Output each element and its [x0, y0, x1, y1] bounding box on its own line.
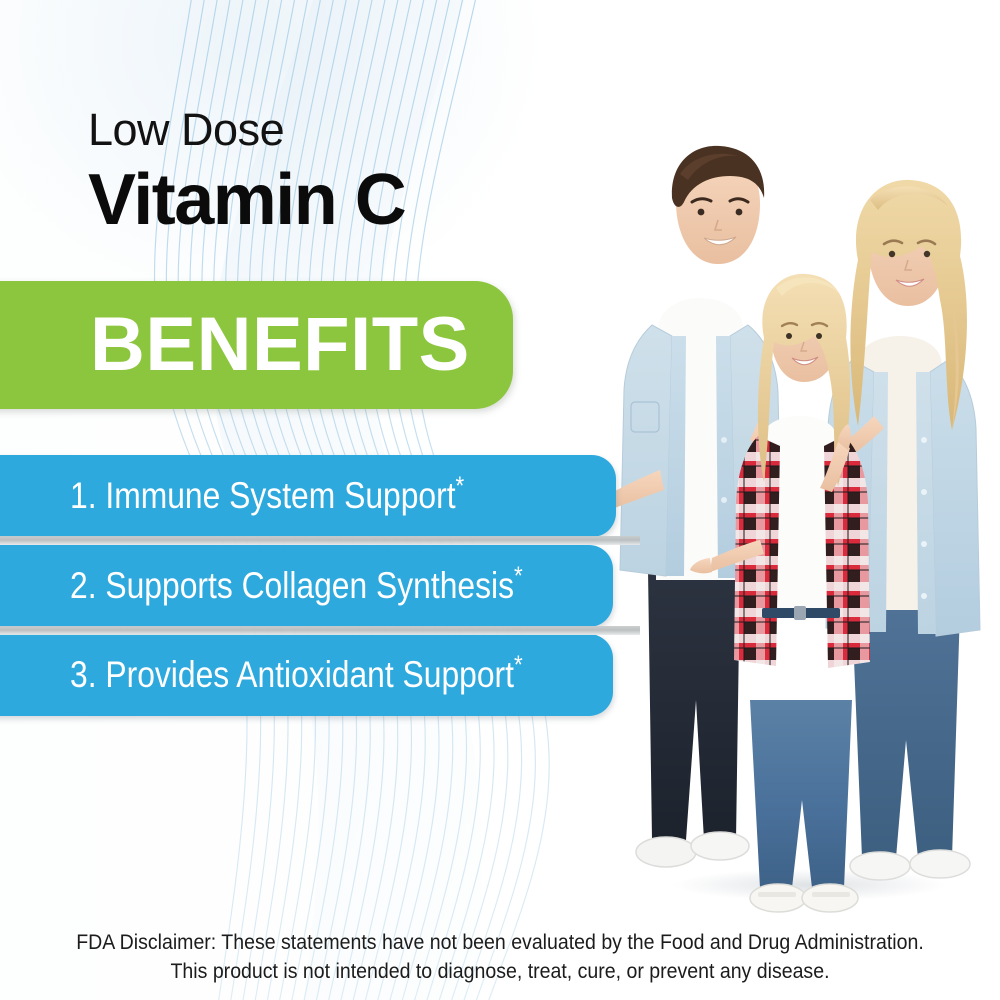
benefit-label-2: Supports Collagen Synthesis [105, 565, 514, 606]
bar-divider-1 [0, 536, 640, 545]
disclaimer-line-2: This product is not intended to diagnose… [35, 957, 965, 986]
benefit-bar-3[interactable]: 3. Provides Antioxidant Support* [0, 634, 613, 716]
benefit-label-1: Immune System Support [105, 475, 455, 516]
benefit-asterisk-3: * [514, 650, 523, 680]
fda-disclaimer: FDA Disclaimer: These statements have no… [0, 928, 1000, 986]
benefit-text-3: 3. Provides Antioxidant Support* [70, 654, 523, 696]
benefit-number-2: 2. [70, 565, 97, 606]
promo-graphic: Low Dose Vitamin C [0, 0, 1000, 1000]
family-photo [600, 140, 1000, 930]
product-name: Vitamin C [88, 162, 405, 238]
benefit-text-2: 2. Supports Collagen Synthesis* [70, 565, 523, 607]
benefit-text-1: 1. Immune System Support* [70, 475, 464, 517]
benefit-asterisk-2: * [514, 561, 523, 591]
benefit-number-1: 1. [70, 475, 97, 516]
benefit-asterisk-1: * [456, 471, 465, 501]
benefits-label: BENEFITS [90, 306, 470, 384]
benefits-banner: BENEFITS [0, 281, 513, 409]
product-eyebrow: Low Dose [88, 104, 405, 156]
benefit-bar-1[interactable]: 1. Immune System Support* [0, 455, 616, 537]
benefit-label-3: Provides Antioxidant Support [105, 654, 514, 695]
benefit-bar-2[interactable]: 2. Supports Collagen Synthesis* [0, 545, 613, 627]
title-block: Low Dose Vitamin C [88, 104, 405, 238]
benefit-number-3: 3. [70, 654, 97, 695]
disclaimer-line-1: FDA Disclaimer: These statements have no… [35, 928, 965, 957]
bar-divider-2 [0, 626, 640, 635]
